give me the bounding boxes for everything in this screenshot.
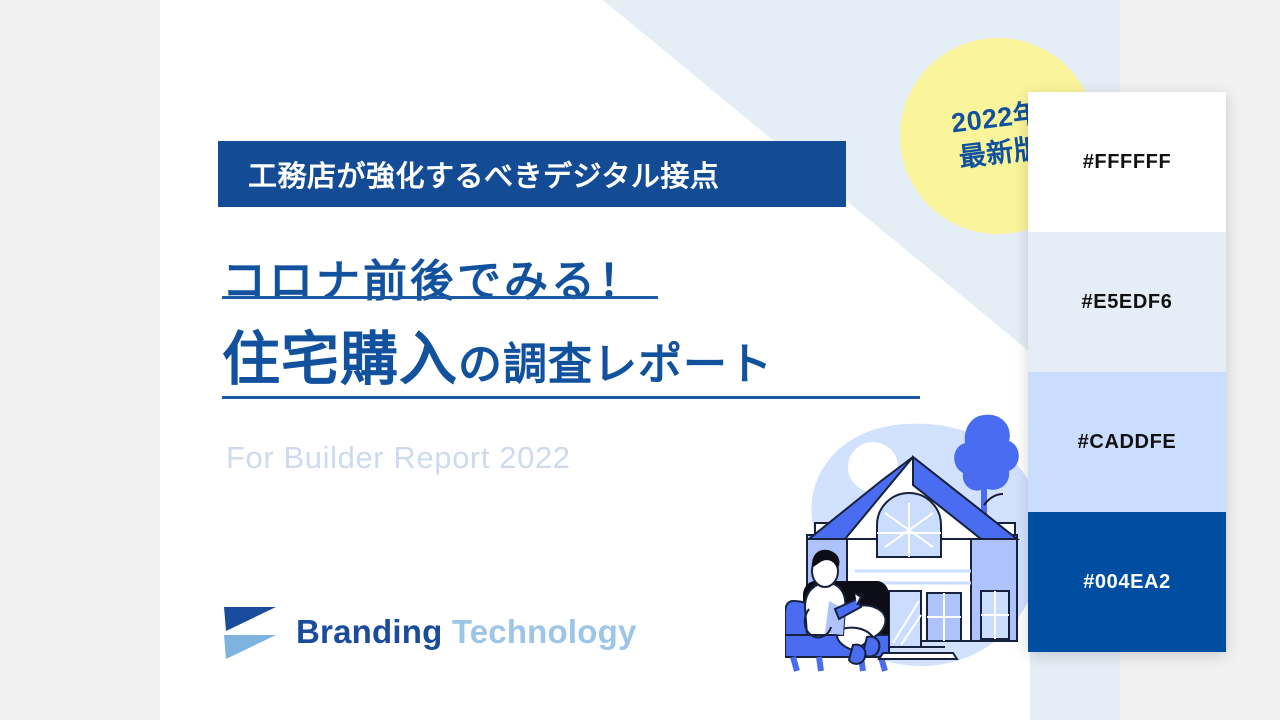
slide-canvas: 2022年 最新版 工務店が強化するべきデジタル接点 コロナ前後でみる！ 住宅購…: [160, 0, 1120, 720]
color-swatch-brand-blue[interactable]: #004EA2: [1028, 512, 1226, 652]
color-swatch-light-blue-label: #CADDFE: [1078, 431, 1177, 454]
title-line-2-rest: の調査レポート: [458, 340, 773, 389]
subtitle: For Builder Report 2022: [226, 440, 571, 476]
color-swatch-white[interactable]: #FFFFFF: [1028, 92, 1226, 232]
color-swatch-brand-blue-label: #004EA2: [1083, 571, 1171, 594]
header-band-text: 工務店が強化するべきデジタル接点: [218, 153, 719, 195]
title-line-1: コロナ前後でみる！: [222, 245, 645, 309]
double-chevron-mark-icon: [222, 603, 278, 661]
header-band: 工務店が強化するべきデジタル接点: [218, 141, 846, 207]
title-line-2: 住宅購入の調査レポート: [222, 312, 773, 396]
color-swatch-pale-blue[interactable]: #E5EDF6: [1028, 232, 1226, 372]
color-swatch-light-blue[interactable]: #CADDFE: [1028, 372, 1226, 512]
title-underline-2: [222, 396, 920, 399]
title-line-2-emphasis: 住宅購入: [222, 327, 458, 392]
color-palette-panel: #FFFFFF #E5EDF6 #CADDFE #004EA2: [1028, 92, 1226, 652]
title-underline-1: [222, 296, 658, 299]
brand-logo: Branding Technology: [222, 603, 637, 661]
logo-word-branding: Branding: [296, 613, 442, 650]
logo-wordmark: Branding Technology: [296, 613, 637, 651]
logo-word-technology: Technology: [452, 613, 637, 650]
color-swatch-white-label: #FFFFFF: [1083, 151, 1172, 174]
color-swatch-pale-blue-label: #E5EDF6: [1082, 291, 1173, 314]
